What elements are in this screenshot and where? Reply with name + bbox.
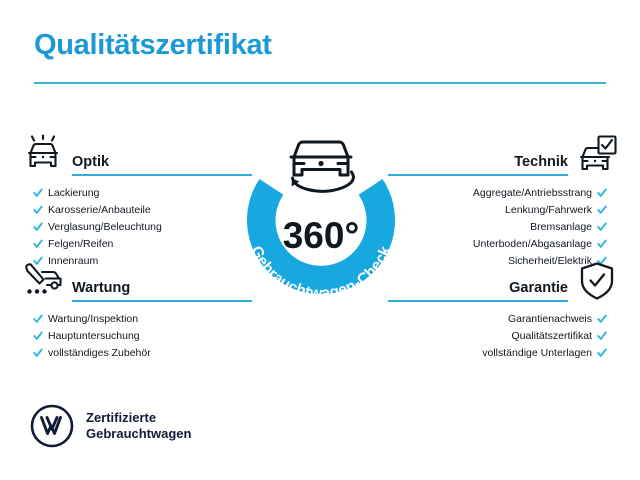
- section-wartung: Wartung Wartung/Inspektion Hauptuntersuc…: [22, 258, 252, 362]
- check-icon: [597, 188, 607, 198]
- list-item: Bremsanlage: [388, 219, 607, 236]
- list-item: Verglasung/Beleuchtung: [33, 219, 252, 236]
- section-optik-title-wrap: Optik: [72, 154, 252, 176]
- list-item-label: Verglasung/Beleuchtung: [48, 222, 162, 233]
- list-item: vollständige Unterlagen: [388, 345, 607, 362]
- list-item: Qualitätszertifikat: [388, 328, 607, 345]
- badge-360-gebrauchtwagen-check: 360° Gebrauchtwagen-Check: [226, 112, 416, 312]
- list-item: Unterboden/Abgasanlage: [388, 236, 607, 253]
- list-item: Garantienachweis: [388, 311, 607, 328]
- list-item: Wartung/Inspektion: [33, 311, 252, 328]
- list-item-label: Bremsanlage: [530, 222, 592, 233]
- section-technik-header: Technik: [388, 132, 618, 176]
- list-item-label: Garantienachweis: [508, 314, 592, 325]
- check-icon: [33, 239, 43, 249]
- list-item-label: Qualitätszertifikat: [511, 331, 592, 342]
- check-icon: [597, 222, 607, 232]
- footer-text: Zertifizierte Gebrauchtwagen: [86, 410, 191, 443]
- check-icon: [33, 331, 43, 341]
- list-item: Aggregate/Antriebsstrang: [388, 185, 607, 202]
- page-title: Qualitätszertifikat: [34, 30, 606, 62]
- list-item-label: Aggregate/Antriebsstrang: [473, 188, 592, 199]
- list-item: Felgen/Reifen: [33, 236, 252, 253]
- list-item: Hauptuntersuchung: [33, 328, 252, 345]
- list-item-label: Karosserie/Anbauteile: [48, 205, 151, 216]
- list-item-label: Lackierung: [48, 188, 99, 199]
- section-optik: Optik Lackierung Karosserie/Anbauteile: [22, 132, 252, 269]
- list-item-label: Lenkung/Fahrwerk: [505, 205, 592, 216]
- section-divider: [72, 174, 252, 176]
- page-header: Qualitätszertifikat: [34, 30, 606, 84]
- footer-brand: Zertifizierte Gebrauchtwagen: [30, 404, 191, 448]
- section-divider: [72, 300, 252, 302]
- badge-center-label: 360°: [283, 215, 360, 256]
- car-checkbox-icon: [576, 134, 618, 176]
- check-icon: [597, 239, 607, 249]
- section-wartung-title-wrap: Wartung: [72, 280, 252, 302]
- check-icon: [33, 348, 43, 358]
- check-icon: [33, 205, 43, 215]
- list-item: Lackierung: [33, 185, 252, 202]
- vw-logo-icon: [30, 404, 74, 448]
- section-title: Wartung: [72, 280, 252, 300]
- header-divider: [34, 82, 606, 84]
- list-item-label: vollständige Unterlagen: [482, 348, 592, 359]
- list-item-label: Hauptuntersuchung: [48, 331, 140, 342]
- list-item: vollständiges Zubehör: [33, 345, 252, 362]
- check-icon: [597, 348, 607, 358]
- section-garantie: Garantie Garantienachweis Qualitätszerti…: [388, 258, 618, 362]
- check-icon: [33, 188, 43, 198]
- car-shine-icon: [22, 134, 64, 176]
- section-technik: Technik Aggregate/Antriebsstrang Lenkung…: [388, 132, 618, 269]
- wrench-car-icon: [22, 260, 64, 302]
- check-icon: [597, 314, 607, 324]
- section-technik-list: Aggregate/Antriebsstrang Lenkung/Fahrwer…: [388, 185, 618, 269]
- section-garantie-list: Garantienachweis Qualitätszertifikat vol…: [388, 311, 618, 362]
- check-icon: [597, 205, 607, 215]
- check-icon: [33, 314, 43, 324]
- check-icon: [597, 331, 607, 341]
- section-optik-list: Lackierung Karosserie/Anbauteile Verglas…: [22, 185, 252, 269]
- section-optik-header: Optik: [22, 132, 252, 176]
- shield-check-icon: [576, 260, 618, 302]
- list-item-label: Felgen/Reifen: [48, 239, 113, 250]
- car-rotation-icon: [291, 142, 353, 191]
- qualitaetszertifikat-page: Qualitätszertifikat Optik: [0, 0, 640, 480]
- list-item: Karosserie/Anbauteile: [33, 202, 252, 219]
- list-item-label: Wartung/Inspektion: [48, 314, 138, 325]
- section-wartung-header: Wartung: [22, 258, 252, 302]
- check-icon: [33, 222, 43, 232]
- section-title: Optik: [72, 154, 252, 174]
- list-item: Lenkung/Fahrwerk: [388, 202, 607, 219]
- list-item-label: vollständiges Zubehör: [48, 348, 151, 359]
- list-item-label: Unterboden/Abgasanlage: [473, 239, 592, 250]
- section-wartung-list: Wartung/Inspektion Hauptuntersuchung vol…: [22, 311, 252, 362]
- section-garantie-header: Garantie: [388, 258, 618, 302]
